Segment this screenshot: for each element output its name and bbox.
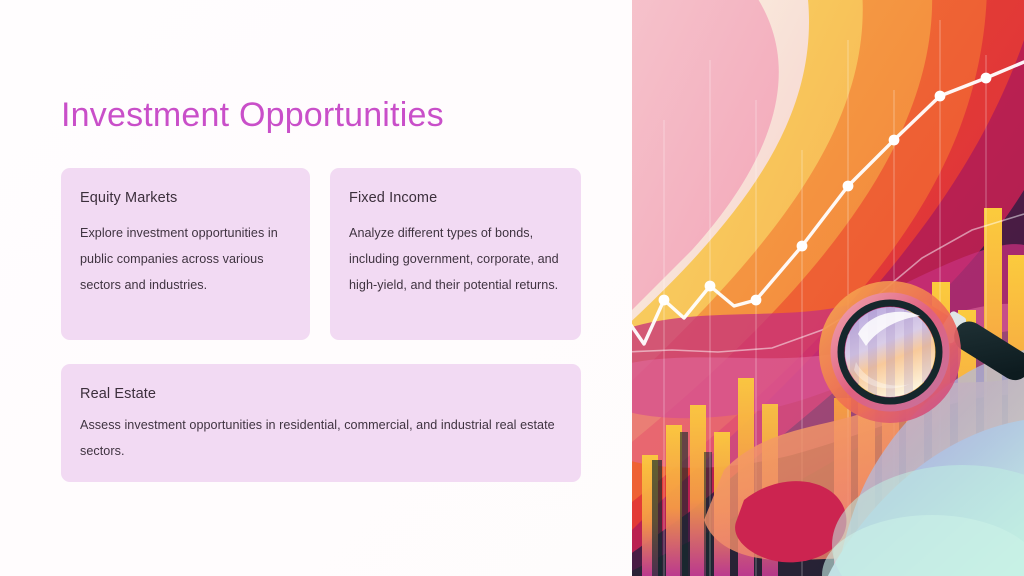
card-body: Explore investment opportunities in publ… xyxy=(80,220,291,298)
card-real-estate[interactable]: Real Estate Assess investment opportunit… xyxy=(61,364,581,482)
financial-growth-magnifier-illustration xyxy=(632,0,1024,576)
illustration-artwork xyxy=(632,0,1024,576)
card-body: Analyze different types of bonds, includ… xyxy=(349,220,562,298)
card-body: Assess investment opportunities in resid… xyxy=(80,412,562,464)
slide: Investment Opportunities Equity Markets … xyxy=(0,0,1024,576)
card-title: Fixed Income xyxy=(349,190,562,206)
card-title: Equity Markets xyxy=(80,190,291,206)
card-fixed-income[interactable]: Fixed Income Analyze different types of … xyxy=(330,168,581,340)
card-equity-markets[interactable]: Equity Markets Explore investment opport… xyxy=(61,168,310,340)
page-title: Investment Opportunities xyxy=(61,96,444,135)
slide-content: Investment Opportunities Equity Markets … xyxy=(61,0,581,576)
card-title: Real Estate xyxy=(80,386,562,402)
